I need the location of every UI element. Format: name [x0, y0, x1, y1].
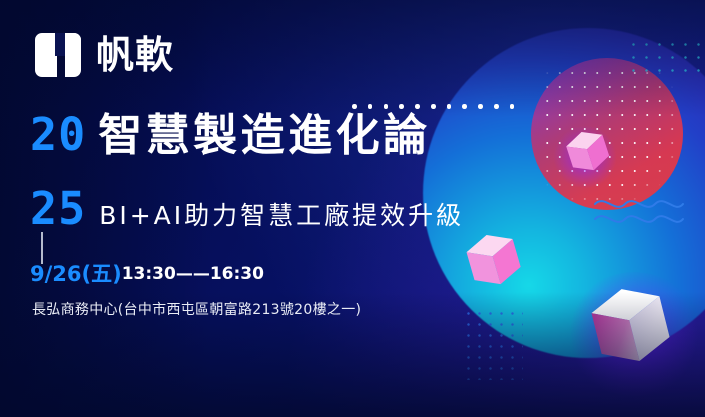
headline-row: 20 智慧製造進化論	[30, 112, 431, 158]
brand-logo: 帆軟	[33, 30, 174, 80]
year-suffix: 25	[30, 186, 86, 231]
year-prefix: 20	[30, 112, 86, 157]
event-venue: 長弘商務中心(台中市西屯區朝富路213號20樓之一)	[32, 302, 361, 319]
brand-wordmark: 帆軟	[96, 36, 174, 74]
fanruan-logo-mark-icon	[33, 30, 83, 80]
page-subtitle: BI+AI助力智慧工廠提效升級	[99, 203, 464, 228]
subline-row: 25 BI+AI助力智慧工廠提效升級	[30, 186, 464, 231]
event-time: 13:30——16:30	[122, 266, 264, 283]
event-banner: 帆軟 20 智慧製造進化論 25 BI+AI助力智慧工廠提效升級 9/26(五)…	[0, 0, 705, 417]
page-title: 智慧製造進化論	[98, 114, 431, 158]
event-datetime: 9/26(五) 13:30——16:30	[30, 264, 264, 285]
event-date: 9/26(五)	[30, 264, 122, 285]
vertical-divider	[41, 232, 43, 264]
